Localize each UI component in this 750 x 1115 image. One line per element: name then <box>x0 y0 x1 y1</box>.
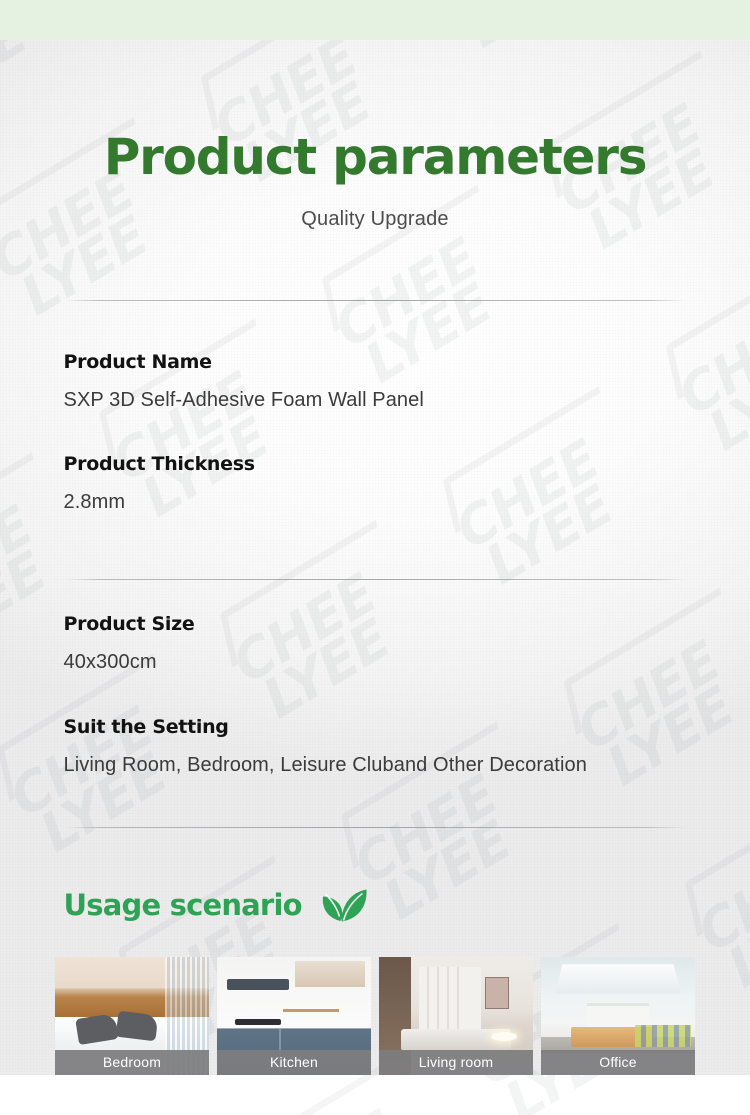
chairs-shape <box>635 1025 691 1047</box>
lamp-shape <box>491 1032 517 1041</box>
spacer <box>0 519 750 579</box>
thumbnail-office[interactable]: Office <box>541 957 695 1075</box>
product-parameters-page: CHEELYEE CHEELYEE CHEELYEE CHEELYEE CHEE… <box>0 0 750 1115</box>
usage-scenario-title: Usage scenario <box>64 888 302 922</box>
spec-value: Living Room, Bedroom, Leisure Cluband Ot… <box>64 738 687 782</box>
thumbnail-caption: Living room <box>379 1050 533 1075</box>
wall-panel-shape <box>419 967 481 1031</box>
spec-item-product-size: Product Size 40x300cm <box>64 613 687 679</box>
thumbnail-caption: Office <box>541 1050 695 1075</box>
ceiling-shape <box>555 964 681 993</box>
spec-group-two: Product Size 40x300cm Suit the Setting L… <box>64 580 687 782</box>
range-hood-shape <box>227 979 289 990</box>
page-subtitle: Quality Upgrade <box>0 182 750 231</box>
spec-group-one: Product Name SXP 3D Self-Adhesive Foam W… <box>64 301 687 519</box>
stove-shape <box>235 1019 281 1025</box>
rail-shape <box>283 1009 339 1012</box>
artwork-shape <box>485 977 509 1009</box>
thumbnail-bedroom[interactable]: Bedroom <box>55 957 209 1075</box>
spacer <box>0 782 750 827</box>
spec-value: SXP 3D Self-Adhesive Foam Wall Panel <box>64 373 687 417</box>
spec-item-product-thickness: Product Thickness 2.8mm <box>64 417 687 519</box>
usage-thumbnail-gallery: Bedroom Kitchen Living room <box>0 957 750 1075</box>
watermark-text-lyee: LYEE <box>277 1092 517 1115</box>
spec-value: 2.8mm <box>64 475 687 519</box>
page-header: Product parameters Quality Upgrade <box>0 132 750 231</box>
thumbnail-caption: Kitchen <box>217 1050 371 1075</box>
spec-item-suit-the-setting: Suit the Setting Living Room, Bedroom, L… <box>64 679 687 782</box>
thumbnail-kitchen[interactable]: Kitchen <box>217 957 371 1075</box>
spec-label: Product Thickness <box>64 453 687 475</box>
leaf-icon <box>316 880 368 929</box>
usage-scenario-heading: Usage scenario <box>64 880 687 929</box>
section-divider <box>64 827 687 828</box>
page-title: Product parameters <box>0 132 750 182</box>
top-accent-band <box>0 0 750 40</box>
thumbnail-caption: Bedroom <box>55 1050 209 1075</box>
shelf-shape <box>295 961 365 987</box>
pillow-shape <box>116 1011 159 1042</box>
thumbnail-living-room[interactable]: Living room <box>379 957 533 1075</box>
usage-scenario-section: Usage scenario <box>0 880 750 929</box>
spec-label: Suit the Setting <box>64 716 687 738</box>
specifications-section: Product Name SXP 3D Self-Adhesive Foam W… <box>0 300 750 828</box>
spec-label: Product Name <box>64 351 687 373</box>
spec-item-product-name: Product Name SXP 3D Self-Adhesive Foam W… <box>64 351 687 417</box>
spec-value: 40x300cm <box>64 635 687 679</box>
spec-label: Product Size <box>64 613 687 635</box>
